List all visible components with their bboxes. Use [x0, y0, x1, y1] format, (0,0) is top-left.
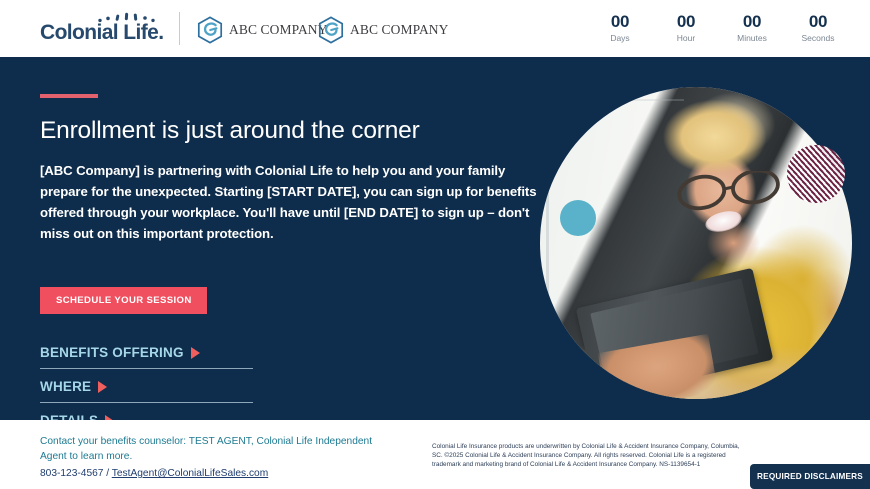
- hatched-circle-icon: [787, 145, 845, 203]
- countdown-hours-label: Hour: [664, 32, 708, 44]
- partner-logo-2[interactable]: ABC COMPANY: [318, 16, 449, 44]
- colonial-life-wordmark: Colonial Life.: [40, 21, 163, 45]
- countdown-hours: 00 Hour: [664, 12, 708, 44]
- page-title: Enrollment is just around the corner: [40, 116, 560, 146]
- partner-logo-1[interactable]: ABC COMPANY: [197, 16, 328, 44]
- play-triangle-icon: [191, 347, 200, 359]
- footer-contact-block: Contact your benefits counselor: TEST AG…: [40, 434, 400, 482]
- accordion-item-label: DETAILS: [40, 413, 98, 420]
- hero-section: Enrollment is just around the corner [AB…: [0, 57, 870, 420]
- partner-logo-2-label: ABC COMPANY: [350, 22, 449, 38]
- countdown-hours-value: 00: [664, 12, 708, 31]
- hexagon-swoosh-icon: [197, 16, 223, 44]
- legal-disclaimer-text: Colonial Life Insurance products are und…: [432, 442, 750, 469]
- countdown-days: 00 Days: [598, 12, 642, 44]
- play-triangle-icon: [98, 381, 107, 393]
- page-footer: Contact your benefits counselor: TEST AG…: [0, 420, 870, 489]
- email-link[interactable]: TestAgent@ColonialLifeSales.com: [112, 468, 268, 479]
- accordion-item-details[interactable]: DETAILS: [40, 413, 253, 420]
- accent-bar: [40, 94, 98, 98]
- required-disclaimers-button[interactable]: REQUIRED DISCLAIMERS: [750, 464, 870, 489]
- accordion-item-where[interactable]: WHERE: [40, 379, 253, 403]
- countdown-minutes: 00 Minutes: [730, 12, 774, 44]
- accordion-item-benefits-offering[interactable]: BENEFITS OFFERING: [40, 345, 253, 369]
- contact-line-2: Agent to learn more.: [40, 449, 400, 464]
- countdown-seconds-value: 00: [796, 12, 840, 31]
- countdown-minutes-label: Minutes: [730, 32, 774, 44]
- hero-photo: [540, 87, 852, 399]
- page-header: Colonial Life. ABC COMPANY ABC COMPANY 0…: [0, 0, 870, 57]
- play-triangle-icon: [105, 415, 114, 421]
- countdown-minutes-value: 00: [730, 12, 774, 31]
- header-divider: [179, 12, 180, 45]
- accordion-list: BENEFITS OFFERING WHERE DETAILS: [40, 345, 253, 420]
- countdown-seconds: 00 Seconds: [796, 12, 840, 44]
- colonial-life-logo[interactable]: Colonial Life.: [40, 12, 172, 46]
- contact-line-1: Contact your benefits counselor: TEST AG…: [40, 434, 400, 449]
- hero-body-text: [ABC Company] is partnering with Colonia…: [40, 160, 548, 244]
- countdown-days-value: 00: [598, 12, 642, 31]
- countdown-days-label: Days: [598, 32, 642, 44]
- eyeglasses-icon: [668, 171, 793, 212]
- partner-logo-1-label: ABC COMPANY: [229, 22, 328, 38]
- hero-text-block: Enrollment is just around the corner [AB…: [40, 94, 560, 244]
- accordion-item-label: BENEFITS OFFERING: [40, 345, 184, 360]
- countdown-seconds-label: Seconds: [796, 32, 840, 44]
- countdown-timer: 00 Days 00 Hour 00 Minutes 00 Seconds: [598, 12, 840, 44]
- phone-number[interactable]: 803-123-4567: [40, 468, 103, 479]
- schedule-session-button[interactable]: SCHEDULE YOUR SESSION: [40, 287, 207, 314]
- teal-circle-icon: [560, 200, 596, 236]
- landing-page: Colonial Life. ABC COMPANY ABC COMPANY 0…: [0, 0, 870, 489]
- hero-photo-image: [540, 87, 852, 399]
- accordion-item-label: WHERE: [40, 379, 91, 394]
- hexagon-swoosh-icon: [318, 16, 344, 44]
- contact-phone-email-line: 803-123-4567 / TestAgent@ColonialLifeSal…: [40, 466, 400, 482]
- phone-email-separator: /: [103, 468, 111, 479]
